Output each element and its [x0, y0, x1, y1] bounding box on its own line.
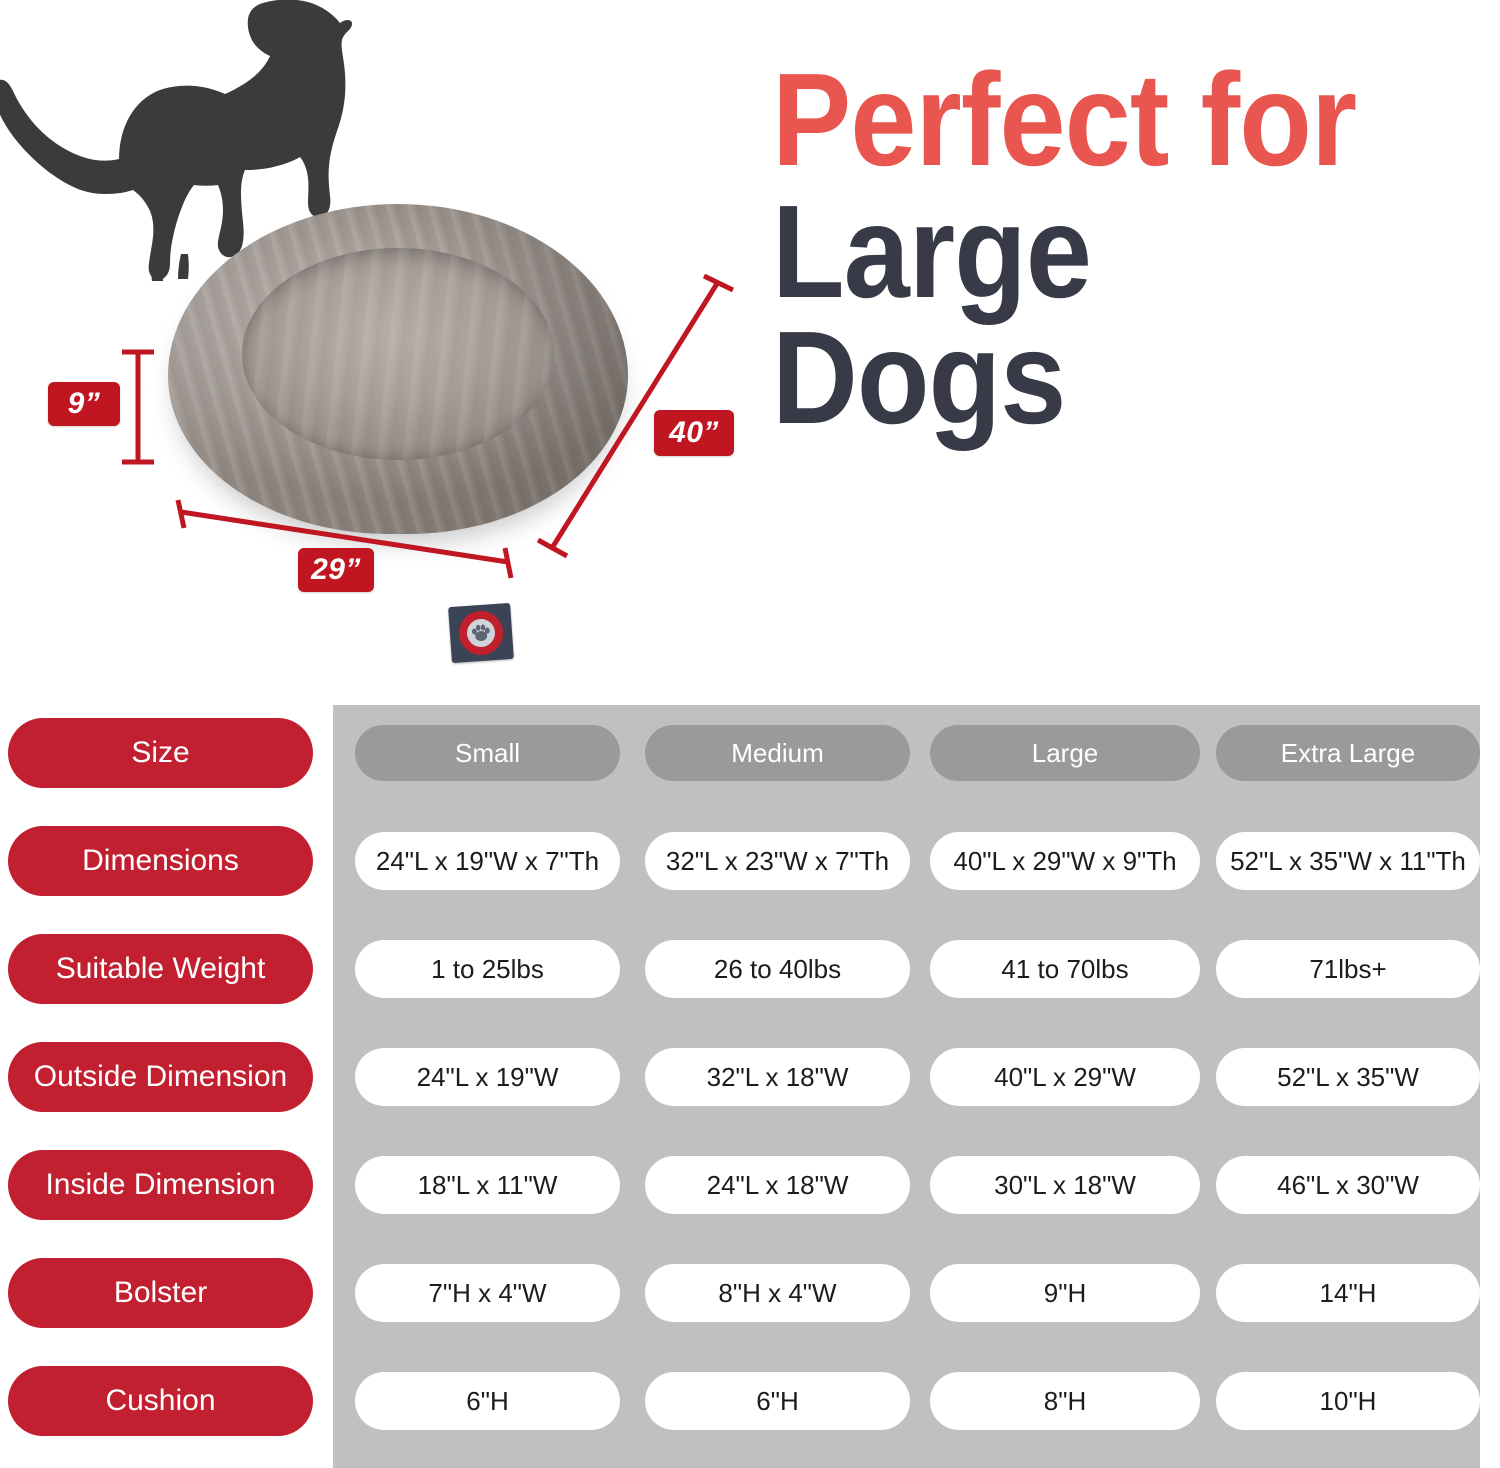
cell-cushion-large: 8"H [930, 1372, 1200, 1430]
cell-inside-dimension-medium: 24"L x 18"W [645, 1156, 910, 1214]
headline: Perfect for Large Dogs [772, 62, 1482, 436]
cell-suitable-weight-medium: 26 to 40lbs [645, 940, 910, 998]
column-header-extra-large: Extra Large [1216, 725, 1480, 781]
cell-cushion-small: 6"H [355, 1372, 620, 1430]
cell-dimensions-small: 24"L x 19"W x 7"Th [355, 832, 620, 890]
cell-outside-dimension-medium: 32"L x 18"W [645, 1048, 910, 1106]
table-cells: SmallMediumLargeExtra Large24"L x 19"W x… [0, 700, 1500, 1468]
cell-cushion-medium: 6"H [645, 1372, 910, 1430]
cell-inside-dimension-small: 18"L x 11"W [355, 1156, 620, 1214]
column-header-small: Small [355, 725, 620, 781]
headline-line-1: Perfect for [772, 62, 1411, 178]
cell-suitable-weight-large: 41 to 70lbs [930, 940, 1200, 998]
hero-section: 9” 29” 40” Perfect for Large Dogs [0, 0, 1500, 700]
specification-table: SizeDimensionsSuitable WeightOutside Dim… [0, 700, 1500, 1468]
column-header-large: Large [930, 725, 1200, 781]
cell-suitable-weight-small: 1 to 25lbs [355, 940, 620, 998]
cell-bolster-large: 9"H [930, 1264, 1200, 1322]
headline-line-2: Large [772, 194, 1411, 310]
cell-outside-dimension-extra-large: 52"L x 35"W [1216, 1048, 1480, 1106]
cell-dimensions-medium: 32"L x 23"W x 7"Th [645, 832, 910, 890]
dimension-label-height: 9” [48, 382, 120, 426]
cell-bolster-medium: 8"H x 4"W [645, 1264, 910, 1322]
cell-outside-dimension-large: 40"L x 29"W [930, 1048, 1200, 1106]
cell-bolster-extra-large: 14"H [1216, 1264, 1480, 1322]
cell-inside-dimension-large: 30"L x 18"W [930, 1156, 1200, 1214]
headline-line-3: Dogs [772, 320, 1411, 436]
cell-dimensions-extra-large: 52"L x 35"W x 11"Th [1216, 832, 1480, 890]
cell-cushion-extra-large: 10"H [1216, 1372, 1480, 1430]
cell-dimensions-large: 40"L x 29"W x 9"Th [930, 832, 1200, 890]
dimension-label-length: 40” [654, 410, 734, 456]
product-infographic: 9” 29” 40” Perfect for Large Dogs SizeDi… [0, 0, 1500, 1468]
column-header-medium: Medium [645, 725, 910, 781]
dimension-label-width: 29” [298, 548, 374, 592]
cell-inside-dimension-extra-large: 46"L x 30"W [1216, 1156, 1480, 1214]
cell-bolster-small: 7"H x 4"W [355, 1264, 620, 1322]
cell-outside-dimension-small: 24"L x 19"W [355, 1048, 620, 1106]
cell-suitable-weight-extra-large: 71lbs+ [1216, 940, 1480, 998]
